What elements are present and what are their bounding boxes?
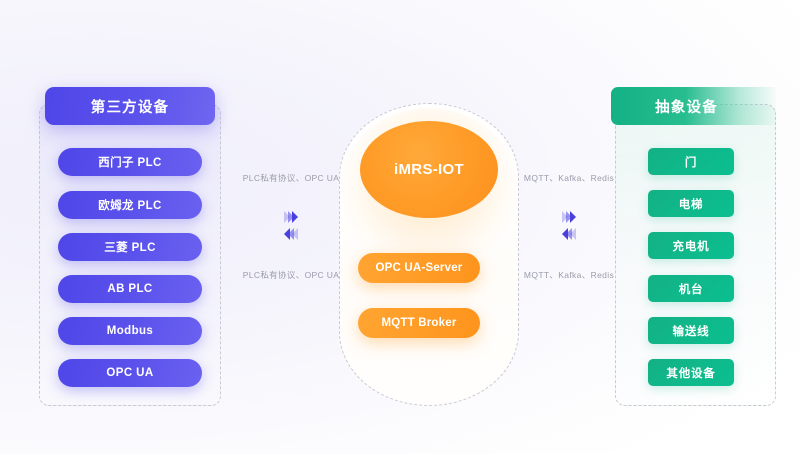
device-node-opc-ua[interactable]: OPC UA [58,359,202,387]
device-node-modbus[interactable]: Modbus [58,317,202,345]
third-party-devices-title: 第三方设备 [91,96,170,117]
service-node-mqtt-broker[interactable]: MQTT Broker [358,308,480,338]
chevrons-left-icon [285,228,297,240]
device-node-label: 欧姆龙 PLC [98,197,162,213]
device-node-label: 三菱 PLC [104,239,156,255]
device-node-omron-plc[interactable]: 欧姆龙 PLC [58,191,202,219]
chevrons-right-icon [285,211,297,223]
abstract-node-label: 输送线 [673,323,710,339]
imrs-iot-hub[interactable]: iMRS-IOT [360,121,498,218]
device-node-label: Modbus [107,325,153,337]
connector-left-arrows [285,211,297,240]
device-node-label: OPC UA [106,367,153,379]
abstract-node-conveyor[interactable]: 输送线 [648,317,734,344]
abstract-node-machine[interactable]: 机台 [648,275,734,302]
device-node-mitsubishi-plc[interactable]: 三菱 PLC [58,233,202,261]
connector-right-bottom-label: MQTT、Kafka、Redis [524,269,614,281]
abstract-node-label: 其他设备 [666,365,715,381]
connector-left-top-label: PLC私有协议、OPC UA [243,172,340,184]
abstract-node-label: 机台 [679,281,704,297]
abstract-node-label: 充电机 [673,238,710,254]
chevrons-right-icon [563,211,575,223]
device-node-label: 西门子 PLC [98,154,162,170]
abstract-devices-header: 抽象设备 [611,87,776,125]
connector-right-top-label: MQTT、Kafka、Redis [524,172,614,184]
abstract-node-other[interactable]: 其他设备 [648,359,734,386]
device-node-siemens-plc[interactable]: 西门子 PLC [58,148,202,176]
connector-left: PLC私有协议、OPC UA PLC私有协议、OPC UA [226,172,356,281]
abstract-node-label: 电梯 [679,196,704,212]
connector-right: MQTT、Kafka、Redis MQTT、Kafka、Redis [504,172,634,281]
abstract-node-elevator[interactable]: 电梯 [648,190,734,217]
chevrons-left-icon [563,228,575,240]
service-node-label: MQTT Broker [381,317,456,329]
connector-right-arrows [563,211,575,240]
device-node-ab-plc[interactable]: AB PLC [58,275,202,303]
device-node-label: AB PLC [107,283,152,295]
abstract-node-door[interactable]: 门 [648,148,734,175]
connector-left-bottom-label: PLC私有协议、OPC UA [243,269,340,281]
service-node-label: OPC UA-Server [376,262,463,274]
abstract-node-label: 门 [685,154,697,170]
imrs-iot-hub-label: iMRS-IOT [394,161,464,178]
abstract-devices-title: 抽象设备 [655,96,718,117]
third-party-devices-header: 第三方设备 [45,87,215,125]
diagram-canvas: 第三方设备 西门子 PLC 欧姆龙 PLC 三菱 PLC AB PLC Modb… [0,0,800,454]
abstract-node-charger[interactable]: 充电机 [648,232,734,259]
service-node-opc-ua-server[interactable]: OPC UA-Server [358,253,480,283]
